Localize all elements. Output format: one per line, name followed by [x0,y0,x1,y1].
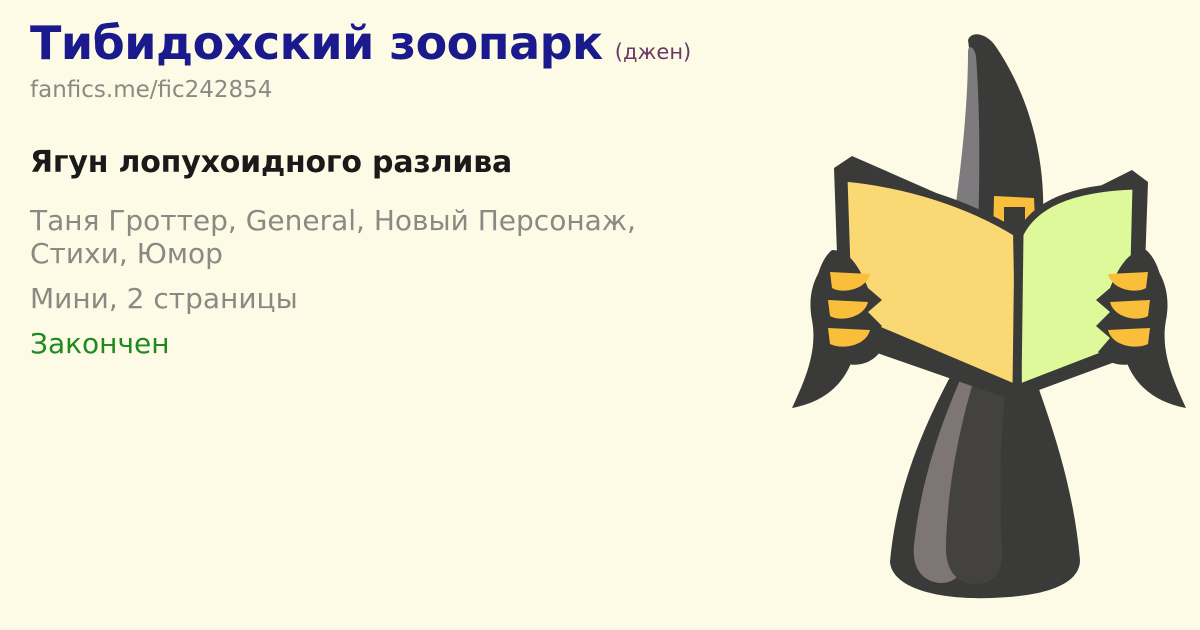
chapter-title: Ягун лопухоидного разлива [30,145,760,180]
rating-marker: (джен) [615,40,691,64]
status-badge: Закончен [30,327,760,360]
meta-block: Таня Гроттер, General, Новый Персонаж, С… [30,204,760,360]
story-url: fanfics.me/fic242854 [30,77,760,103]
book-spine [1016,230,1019,390]
fanfic-preview-card: Тибидохский зоопарк (джен) fanfics.me/fi… [0,0,1200,630]
page-title: Тибидохский зоопарк [30,18,603,69]
title-row: Тибидохский зоопарк (джен) [30,18,760,69]
story-tags: Таня Гроттер, General, Новый Персонаж, С… [30,204,670,270]
left-hand-claws [828,272,870,347]
story-size: Мини, 2 страницы [30,282,760,315]
right-hand-claws [1108,272,1150,347]
text-column: Тибидохский зоопарк (джен) fanfics.me/fi… [30,18,760,360]
wizard-reading-book-illustration [780,0,1200,630]
